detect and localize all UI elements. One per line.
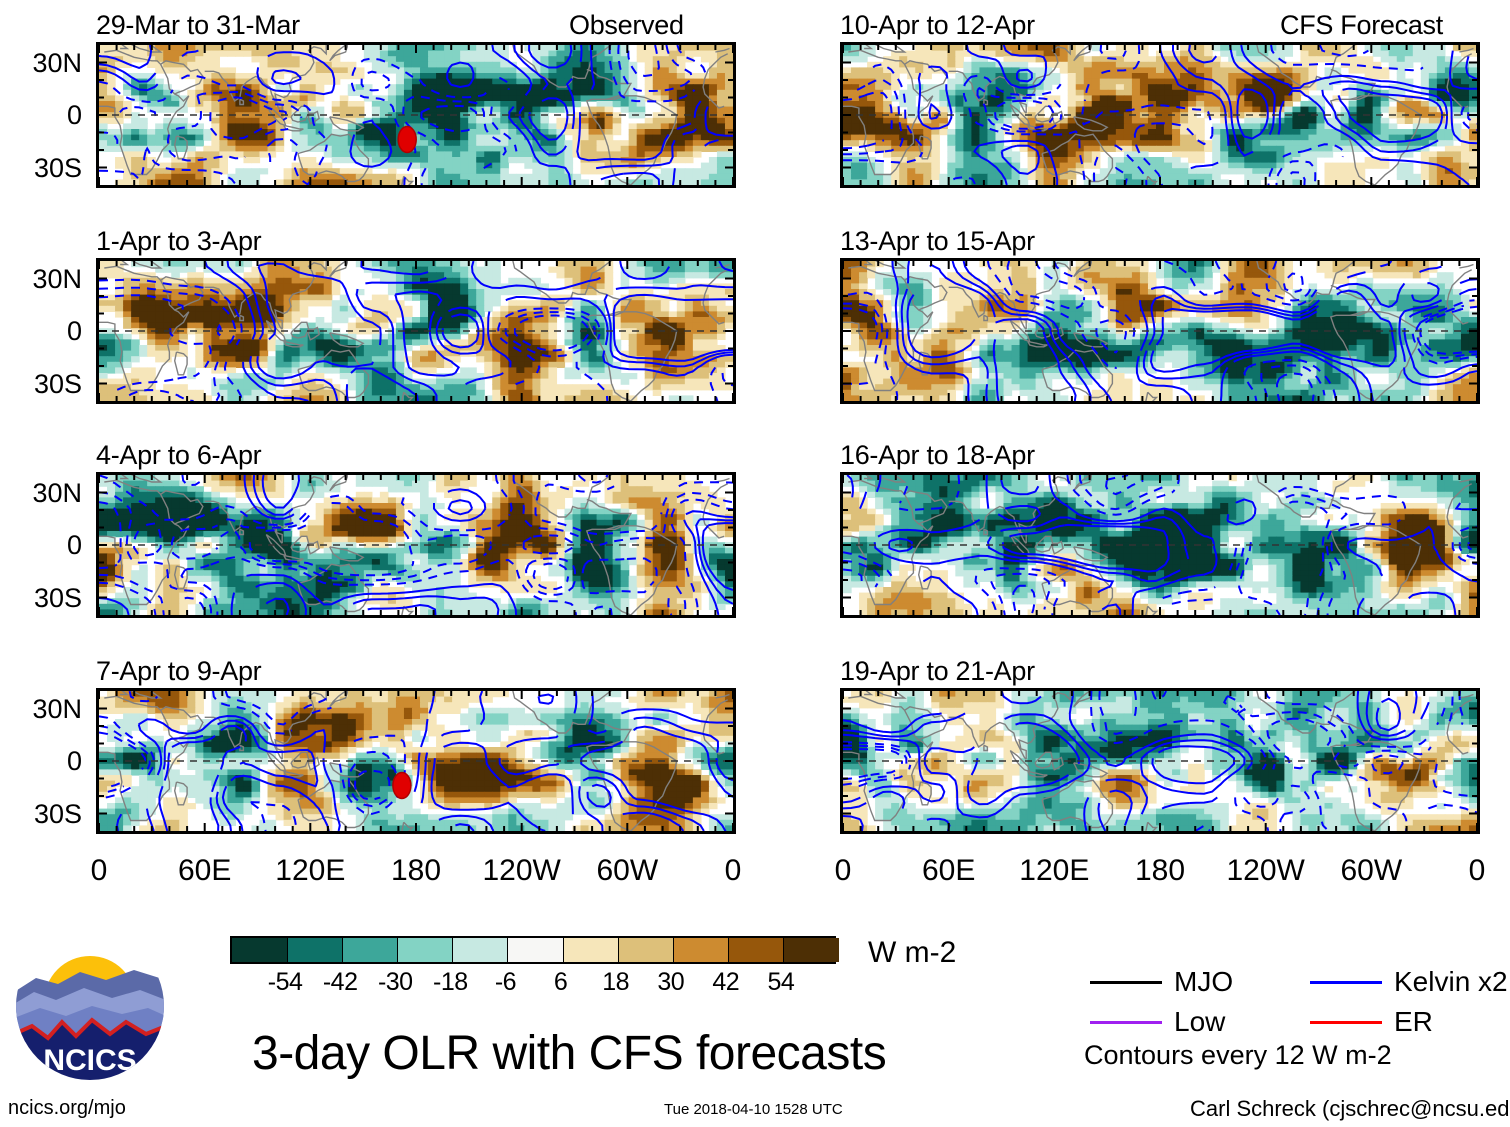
- footer-website[interactable]: ncics.org/mjo: [8, 1098, 126, 1118]
- colorbar-segment-4: [452, 938, 508, 962]
- x-tick-label-left-60W: 60W: [567, 856, 687, 886]
- y-tick-label-30N: 30N: [0, 266, 82, 293]
- legend-line-low: [1090, 1021, 1162, 1024]
- colorbar-segment-7: [618, 938, 674, 962]
- panel-title-p1: 29-Mar to 31-Mar: [96, 12, 300, 39]
- colorbar-segment-8: [673, 938, 729, 962]
- map-panel-p6[interactable]: [840, 258, 1480, 404]
- column-header-right: CFS Forecast: [1280, 12, 1443, 39]
- panel-title-p2: 1-Apr to 3-Apr: [96, 228, 261, 255]
- colorbar-units-label: W m-2: [868, 938, 956, 968]
- x-tick-label-right-120E: 120E: [994, 856, 1114, 886]
- panel-title-p8: 19-Apr to 21-Apr: [840, 658, 1035, 685]
- panel-title-p3: 4-Apr to 6-Apr: [96, 442, 261, 469]
- panel-title-p4: 7-Apr to 9-Apr: [96, 658, 261, 685]
- y-tick-label-0: 0: [0, 102, 82, 129]
- x-tick-label-right-60E: 60E: [889, 856, 1009, 886]
- x-tick-label-left-120E: 120E: [250, 856, 370, 886]
- map-panel-p3[interactable]: [96, 472, 736, 618]
- x-tick-label-right-180: 180: [1100, 856, 1220, 886]
- x-tick-label-right-60W: 60W: [1311, 856, 1431, 886]
- footer-author: Carl Schreck (cjschrec@ncsu.edu): [1190, 1098, 1510, 1120]
- x-tick-label-right-0: 0: [783, 856, 903, 886]
- legend-line-mjo: [1090, 981, 1162, 984]
- legend-note: Contours every 12 W m-2: [1084, 1042, 1392, 1069]
- legend-line-kelvin-x2: [1310, 981, 1382, 984]
- colorbar: [230, 936, 836, 964]
- ncics-logo-mark: NCICS: [14, 930, 166, 1082]
- er-contour-marker: [398, 127, 416, 153]
- map-panel-p8[interactable]: [840, 688, 1480, 834]
- colorbar-segment-6: [563, 938, 619, 962]
- panel-title-p7: 16-Apr to 18-Apr: [840, 442, 1035, 469]
- legend-line-er: [1310, 1021, 1382, 1024]
- legend-label-er: ER: [1394, 1008, 1433, 1036]
- legend-label-low: Low: [1174, 1008, 1225, 1036]
- footer-timestamp: Tue 2018-04-10 1528 UTC: [664, 1102, 843, 1117]
- y-tick-label-30N: 30N: [0, 50, 82, 77]
- y-tick-label-0: 0: [0, 318, 82, 345]
- column-header-left: Observed: [569, 12, 684, 39]
- y-tick-label-30S: 30S: [0, 155, 82, 182]
- y-tick-label-0: 0: [0, 748, 82, 775]
- map-panel-p4[interactable]: [96, 688, 736, 834]
- y-tick-label-30N: 30N: [0, 696, 82, 723]
- colorbar-segment-0: [232, 938, 287, 962]
- x-tick-label-left-180: 180: [356, 856, 476, 886]
- map-panel-p5[interactable]: [840, 42, 1480, 188]
- colorbar-segment-2: [342, 938, 398, 962]
- map-panel-p1[interactable]: [96, 42, 736, 188]
- x-tick-label-left-120W: 120W: [462, 856, 582, 886]
- map-panel-p2[interactable]: [96, 258, 736, 404]
- figure-title: 3-day OLR with CFS forecasts: [252, 1030, 886, 1078]
- x-tick-label-right-120W: 120W: [1206, 856, 1326, 886]
- colorbar-segment-9: [728, 938, 784, 962]
- colorbar-segment-5: [507, 938, 563, 962]
- x-tick-label-left-0: 0: [673, 856, 793, 886]
- colorbar-segment-1: [287, 938, 343, 962]
- colorbar-tick-54: 54: [741, 970, 821, 995]
- panel-title-p5: 10-Apr to 12-Apr: [840, 12, 1035, 39]
- y-tick-label-30S: 30S: [0, 801, 82, 828]
- map-panel-p7[interactable]: [840, 472, 1480, 618]
- y-tick-label-30S: 30S: [0, 371, 82, 398]
- panel-title-p6: 13-Apr to 15-Apr: [840, 228, 1035, 255]
- x-tick-label-right-0: 0: [1417, 856, 1510, 886]
- legend-label-kelvin-x2: Kelvin x2: [1394, 968, 1508, 996]
- colorbar-segment-3: [397, 938, 453, 962]
- ncics-logo: NCICS: [14, 930, 166, 1082]
- y-tick-label-30N: 30N: [0, 480, 82, 507]
- x-tick-label-left-60E: 60E: [145, 856, 265, 886]
- legend-label-mjo: MJO: [1174, 968, 1233, 996]
- y-tick-label-30S: 30S: [0, 585, 82, 612]
- x-tick-label-left-0: 0: [39, 856, 159, 886]
- colorbar-segment-10: [783, 938, 839, 962]
- er-contour-marker: [393, 773, 411, 799]
- y-tick-label-0: 0: [0, 532, 82, 559]
